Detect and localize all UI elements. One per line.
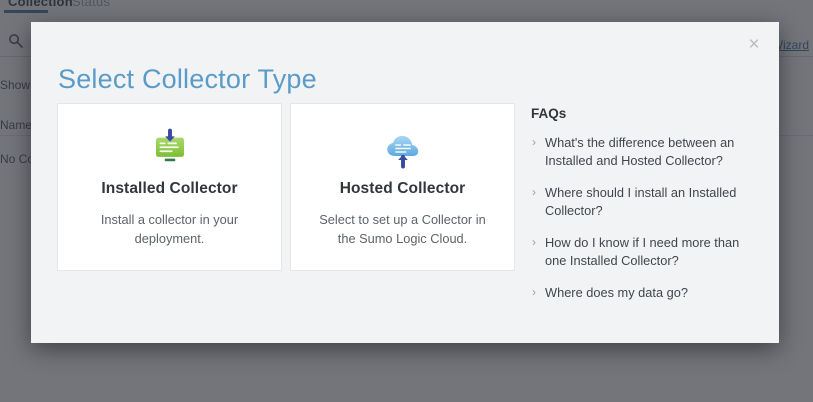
faq-item-label: Where should I install an Installed Coll… (545, 185, 736, 218)
hosted-collector-title: Hosted Collector (291, 180, 514, 198)
app-screen: Collection Status Search Show: Name No C… (0, 0, 813, 402)
faq-item[interactable]: › Where should I install an Installed Co… (531, 184, 756, 220)
faq-item-label: Where does my data go? (545, 285, 688, 300)
faq-heading: FAQs (531, 106, 756, 121)
installed-collector-icon (58, 127, 281, 171)
chevron-right-icon: › (532, 283, 536, 301)
hosted-collector-description: Select to set up a Collector in the Sumo… (309, 210, 496, 248)
installed-collector-title: Installed Collector (58, 180, 281, 198)
chevron-right-icon: › (532, 233, 536, 251)
hosted-collector-card[interactable]: Hosted Collector Select to set up a Coll… (290, 103, 515, 271)
faq-item[interactable]: › How do I know if I need more than one … (531, 234, 756, 270)
faq-item[interactable]: › Where does my data go? (531, 284, 756, 302)
faq-panel: FAQs › What's the difference between an … (531, 106, 756, 316)
installed-collector-card[interactable]: Installed Collector Install a collector … (57, 103, 282, 271)
close-icon[interactable]: × (742, 33, 766, 57)
dialog-title: Select Collector Type (58, 64, 317, 95)
select-collector-type-dialog: × Select Collector Type (31, 22, 779, 343)
installed-collector-description: Install a collector in your deployment. (76, 210, 263, 248)
faq-item-label: What's the difference between an Install… (545, 135, 734, 168)
hosted-collector-icon (291, 127, 514, 171)
faq-item-label: How do I know if I need more than one In… (545, 235, 739, 268)
faq-item[interactable]: › What's the difference between an Insta… (531, 134, 756, 170)
collector-type-cards: Installed Collector Install a collector … (57, 103, 517, 271)
chevron-right-icon: › (532, 133, 536, 151)
chevron-right-icon: › (532, 183, 536, 201)
